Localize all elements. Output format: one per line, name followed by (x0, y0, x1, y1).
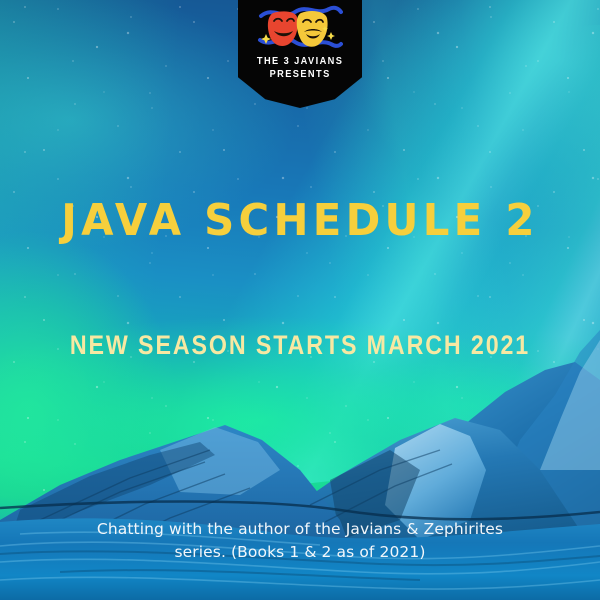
poster-canvas: THE 3 JAVIANS PRESENTS JAVA SCHEDULE 2 N… (0, 0, 600, 600)
presenter-line-1: THE 3 JAVIANS (257, 55, 343, 68)
presenter-banner: THE 3 JAVIANS PRESENTS (238, 0, 362, 108)
sparkle-right (327, 32, 335, 40)
presenter-name-text: THE 3 JAVIANS PRESENTS (257, 55, 343, 81)
event-description-line-1: Chatting with the author of the Javians … (0, 518, 600, 541)
event-description-line-2: series. (Books 1 & 2 as of 2021) (0, 541, 600, 564)
season-subtitle: NEW SEASON STARTS MARCH 2021 (42, 330, 558, 361)
page-title: JAVA SCHEDULE 2 (15, 196, 585, 246)
event-description: Chatting with the author of the Javians … (0, 518, 600, 564)
theatre-masks-icon (257, 4, 343, 52)
presenter-line-2: PRESENTS (257, 68, 343, 81)
